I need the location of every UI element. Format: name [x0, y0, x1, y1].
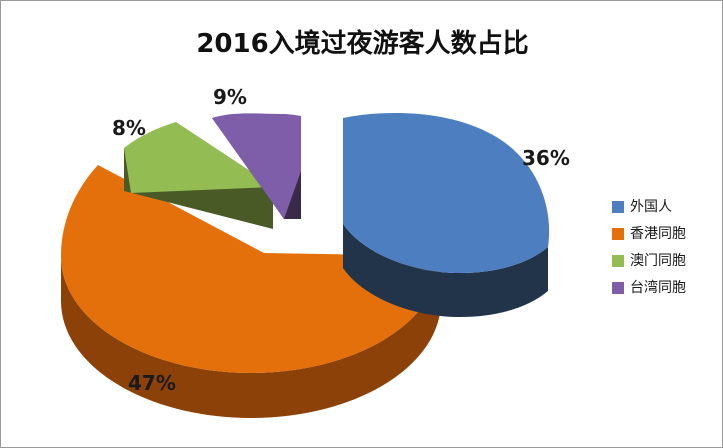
pie-slice-foreigners[interactable] [343, 113, 549, 317]
legend-item-macau[interactable]: 澳门同胞 [612, 247, 717, 274]
data-label-hongkong: 47% [128, 371, 176, 395]
legend-item-foreigners[interactable]: 外国人 [612, 193, 717, 220]
legend-swatch-icon [612, 255, 624, 267]
legend-item-label: 澳门同胞 [630, 254, 686, 268]
chart-legend: 外国人 香港同胞 澳门同胞 台湾同胞 [612, 193, 717, 301]
legend-item-hongkong[interactable]: 香港同胞 [612, 220, 717, 247]
legend-item-label: 外国人 [630, 200, 672, 214]
pie-slice-foreigners-top [343, 113, 549, 273]
legend-item-label: 台湾同胞 [630, 281, 686, 295]
chart-container: 2016入境过夜游客人数占比 36% 47% 8% 9% [0, 0, 723, 448]
legend-swatch-icon [612, 201, 624, 213]
legend-item-taiwan[interactable]: 台湾同胞 [612, 274, 717, 301]
legend-swatch-icon [612, 228, 624, 240]
legend-item-label: 香港同胞 [630, 227, 686, 241]
legend-swatch-icon [612, 282, 624, 294]
data-label-foreigners: 36% [522, 146, 570, 170]
data-label-taiwan: 9% [213, 85, 247, 109]
data-label-macau: 8% [112, 116, 146, 140]
